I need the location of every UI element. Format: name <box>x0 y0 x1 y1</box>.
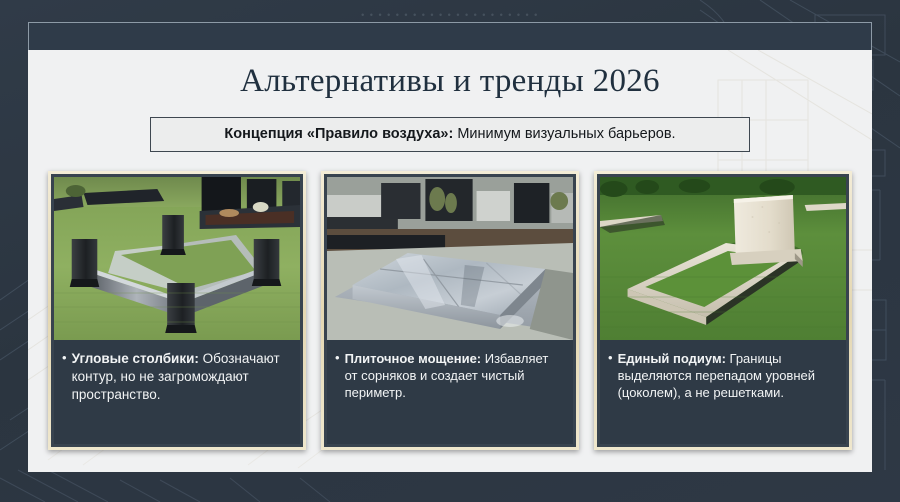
bullet-icon: • <box>335 350 340 366</box>
card-single-podium[interactable]: • Единый подиум: Границы выделяются пере… <box>594 171 852 450</box>
page-title: Альтернативы и тренды 2026 <box>28 63 872 100</box>
slide-header-bar <box>28 22 872 51</box>
slide-panel: Альтернативы и тренды 2026 Концепция «Пр… <box>28 50 872 472</box>
card-caption: • Угловые столбики: Обозначают контур, н… <box>54 340 300 444</box>
tiled-paving-grave-photo <box>327 177 573 340</box>
ghost-top-caption: • • • • • • • • • • • • • • • • • • • • … <box>0 10 900 20</box>
caption-lead: Угловые столбики: <box>72 351 199 366</box>
concept-rest: Минимум визуальных барьеров. <box>453 126 675 142</box>
caption-lead: Единый подиум: <box>618 351 726 366</box>
card-tiled-paving[interactable]: • Плиточное мощение: Избавляет от сорняк… <box>321 171 579 450</box>
bullet-icon: • <box>62 350 67 366</box>
concept-box: Концепция «Правило воздуха»: Минимум виз… <box>150 117 750 152</box>
card-inner: • Плиточное мощение: Избавляет от сорняк… <box>324 174 576 447</box>
single-podium-grave-photo <box>600 177 846 340</box>
card-row: • Угловые столбики: Обозначают контур, н… <box>48 171 852 450</box>
bullet-icon: • <box>608 350 613 366</box>
card-inner: • Единый подиум: Границы выделяются пере… <box>597 174 849 447</box>
card-caption: • Плиточное мощение: Избавляет от сорняк… <box>327 340 573 444</box>
card-caption: • Единый подиум: Границы выделяются пере… <box>600 340 846 444</box>
concept-lead: Концепция «Правило воздуха»: <box>224 126 453 142</box>
corner-posts-grave-photo <box>54 177 300 340</box>
caption-lead: Плиточное мощение: <box>345 351 482 366</box>
card-inner: • Угловые столбики: Обозначают контур, н… <box>51 174 303 447</box>
card-corner-posts[interactable]: • Угловые столбики: Обозначают контур, н… <box>48 171 306 450</box>
